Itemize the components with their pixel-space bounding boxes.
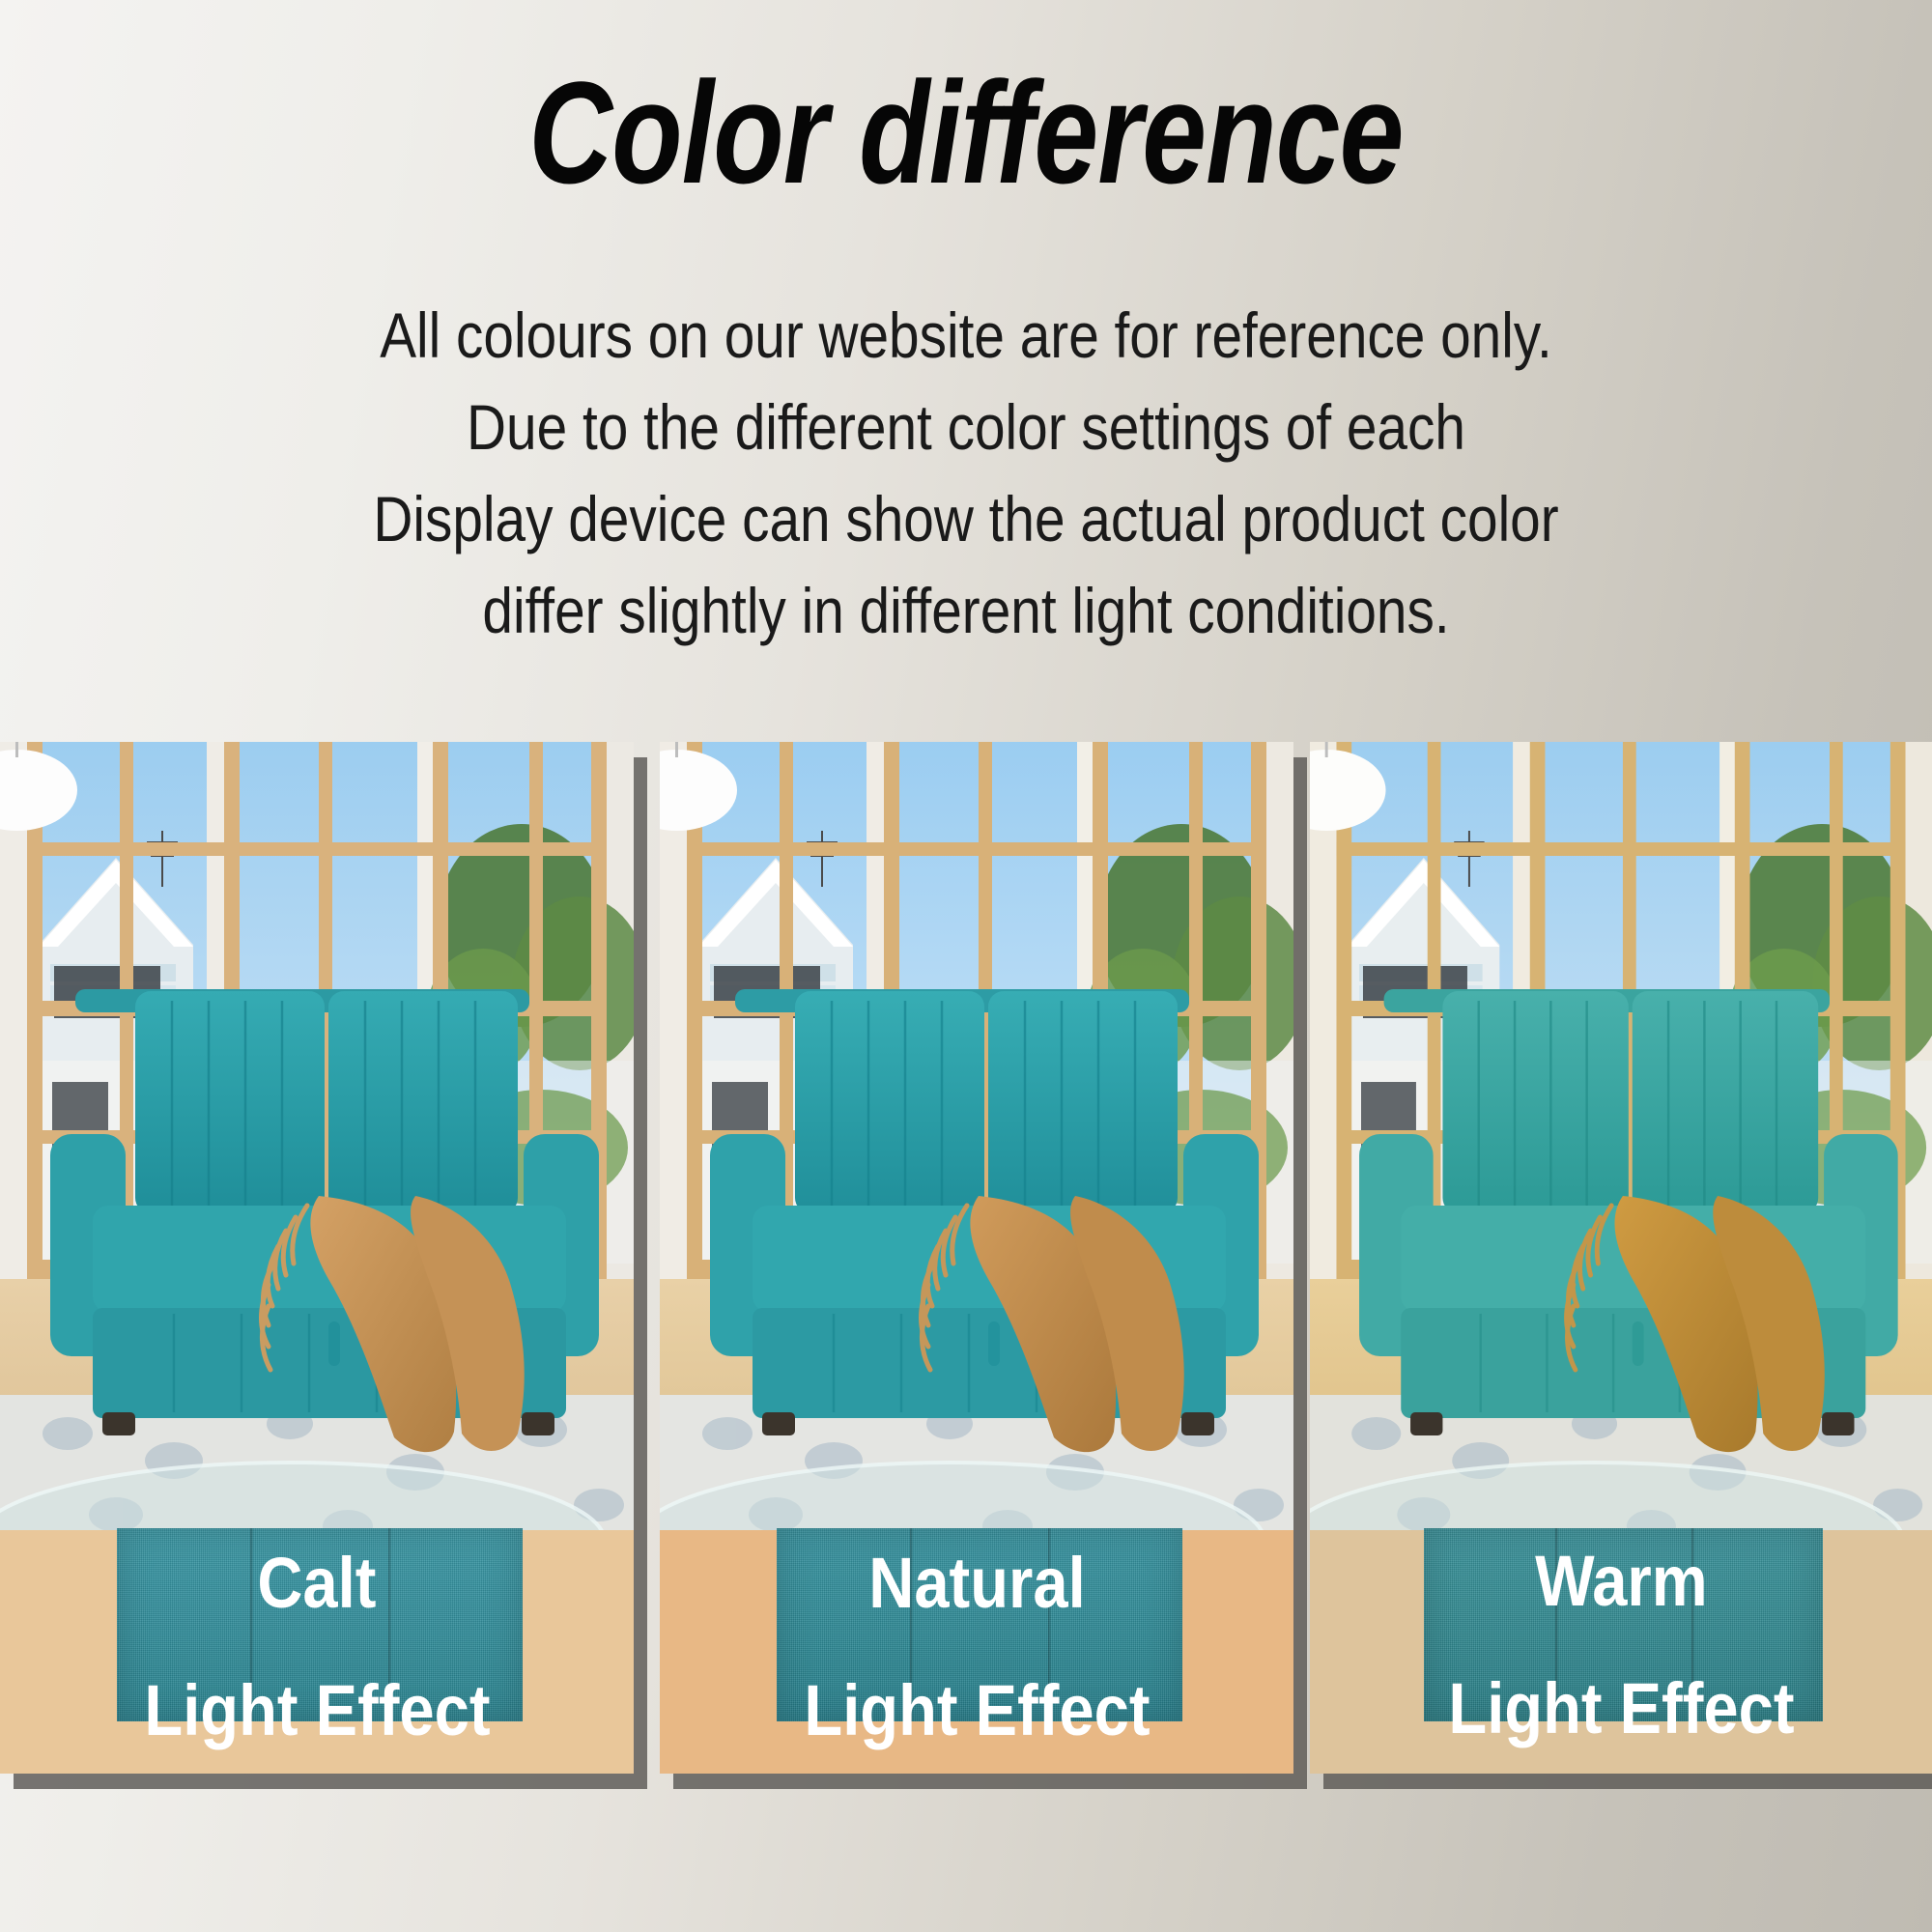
panel-label-title: Calt [257, 1548, 376, 1619]
disclaimer-line-3: Display device can show the actual produ… [135, 473, 1797, 565]
room-scene-calt [0, 742, 634, 1551]
label-group-calt: Calt Light Effect [0, 1530, 634, 1774]
header-section: Color difference All colours on our webs… [0, 0, 1932, 734]
disclaimer-line-2: Due to the different color settings of e… [135, 382, 1797, 473]
panel-label-title: Warm [1535, 1546, 1708, 1617]
panel-label-subtitle: Light Effect [1448, 1673, 1794, 1745]
page-title: Color difference [193, 60, 1739, 205]
room-scene-natural [660, 742, 1293, 1551]
panel-calt[interactable]: Calt Light Effect [0, 742, 634, 1774]
panel-natural[interactable]: Natural Light Effect [660, 742, 1293, 1774]
room-illustration [1310, 742, 1932, 1551]
label-group-warm: Warm Light Effect [1310, 1530, 1932, 1774]
disclaimer-line-4: differ slightly in different light condi… [135, 565, 1797, 657]
disclaimer-paragraph: All colours on our website are for refer… [0, 290, 1932, 657]
room-scene-warm [1310, 742, 1932, 1551]
room-illustration [0, 742, 634, 1551]
swatch-plate-natural: Natural Light Effect [660, 1530, 1293, 1774]
label-group-natural: Natural Light Effect [660, 1530, 1293, 1774]
color-difference-infographic: Color difference All colours on our webs… [0, 0, 1932, 1932]
panel-label-subtitle: Light Effect [804, 1675, 1150, 1747]
panel-warm[interactable]: Warm Light Effect [1310, 742, 1932, 1774]
panel-label-subtitle: Light Effect [144, 1675, 490, 1747]
room-illustration [660, 742, 1293, 1551]
disclaimer-line-1: All colours on our website are for refer… [135, 290, 1797, 382]
swatch-plate-calt: Calt Light Effect [0, 1530, 634, 1774]
panel-label-title: Natural [868, 1548, 1085, 1619]
comparison-panels: Calt Light Effect [0, 742, 1932, 1795]
swatch-plate-warm: Warm Light Effect [1310, 1530, 1932, 1774]
